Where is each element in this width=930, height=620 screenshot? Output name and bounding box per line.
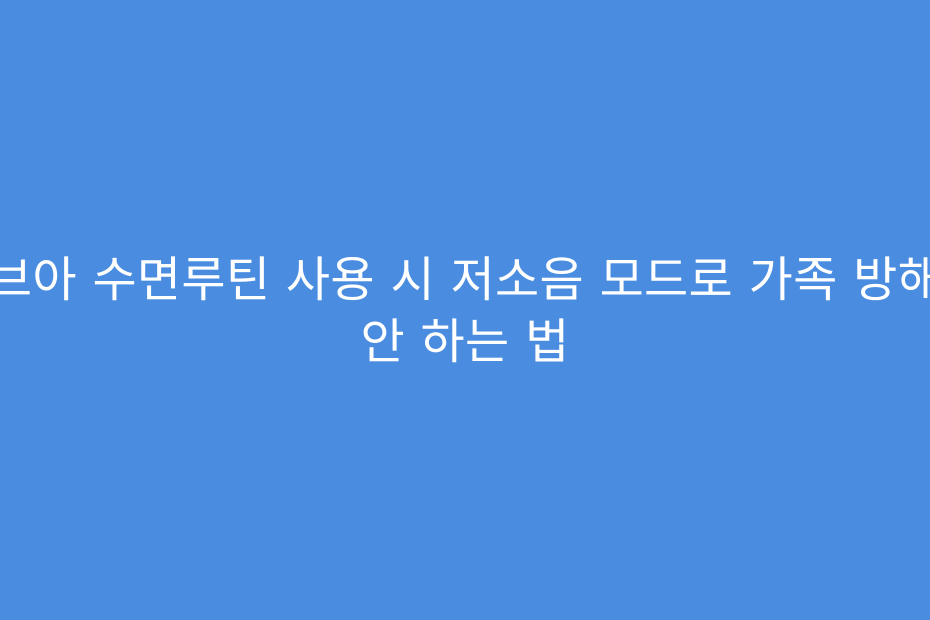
page-title: 브아 수면루틴 사용 시 저소음 모드로 가족 방해 안 하는 법 <box>0 250 930 374</box>
thumbnail-canvas: 브아 수면루틴 사용 시 저소음 모드로 가족 방해 안 하는 법 <box>0 0 930 620</box>
page-title-line-1: 브아 수면루틴 사용 시 저소음 모드로 가족 방해 <box>0 250 930 312</box>
page-title-line-2: 안 하는 법 <box>0 312 930 374</box>
